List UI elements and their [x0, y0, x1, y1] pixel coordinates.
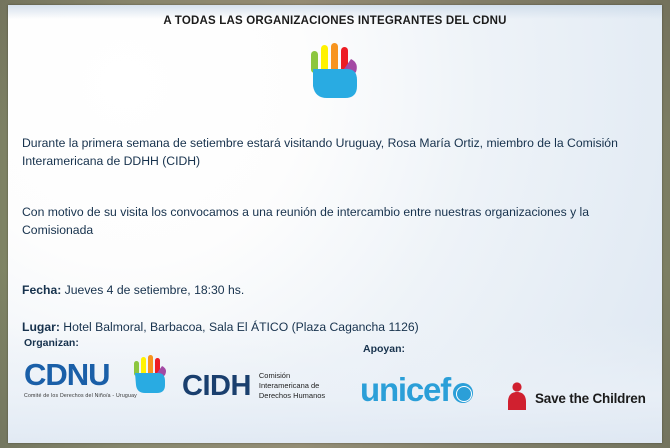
slide-background: A TODAS LAS ORGANIZACIONES INTEGRANTES D… — [0, 0, 670, 448]
colorful-hand-icon — [299, 41, 371, 101]
paragraph-visit: Durante la primera semana de setiembre e… — [22, 135, 648, 170]
footer-logos: Organizan: Apoyan: CDNU Comité de los De… — [8, 331, 662, 443]
organize-label: Organizan: — [24, 337, 79, 349]
detail-date: Fecha: Jueves 4 de setiembre, 18:30 hs. — [22, 282, 648, 300]
logo-cdnu: CDNU Comité de los Derechos del Niño/a -… — [24, 359, 174, 399]
cidh-line-1: Comisión — [259, 371, 290, 380]
logo-save-the-children: Save the Children — [505, 381, 646, 416]
cidh-line-3: Derechos Humanos — [259, 391, 325, 400]
slide-content: A TODAS LAS ORGANIZACIONES INTEGRANTES D… — [8, 15, 662, 337]
paragraph-meeting: Con motivo de su visita los convocamos a… — [22, 204, 648, 239]
cdnu-hand-logo — [22, 41, 648, 101]
cdnu-wordmark: CDNU — [24, 359, 110, 390]
presentation-slide: A TODAS LAS ORGANIZACIONES INTEGRANTES D… — [8, 5, 662, 443]
cdnu-hand-icon — [128, 353, 174, 398]
support-label: Apoyan: — [363, 343, 405, 355]
cidh-wordmark: CIDH — [182, 372, 251, 401]
cidh-fullname: Comisión Interamericana de Derechos Huma… — [259, 371, 325, 401]
logo-cidh: CIDH Comisión Interamericana de Derechos… — [182, 371, 325, 401]
unicef-wordmark: unicef — [360, 373, 450, 406]
detail-date-value: Jueves 4 de setiembre, 18:30 hs. — [61, 283, 244, 297]
detail-date-label: Fecha: — [22, 283, 61, 297]
logo-unicef: unicef — [360, 373, 473, 406]
cidh-line-2: Interamericana de — [259, 381, 319, 390]
stc-wordmark: Save the Children — [535, 391, 646, 406]
page-title: A TODAS LAS ORGANIZACIONES INTEGRANTES D… — [22, 15, 648, 27]
stc-figure-icon — [505, 381, 529, 416]
unicef-globe-icon — [453, 383, 473, 403]
